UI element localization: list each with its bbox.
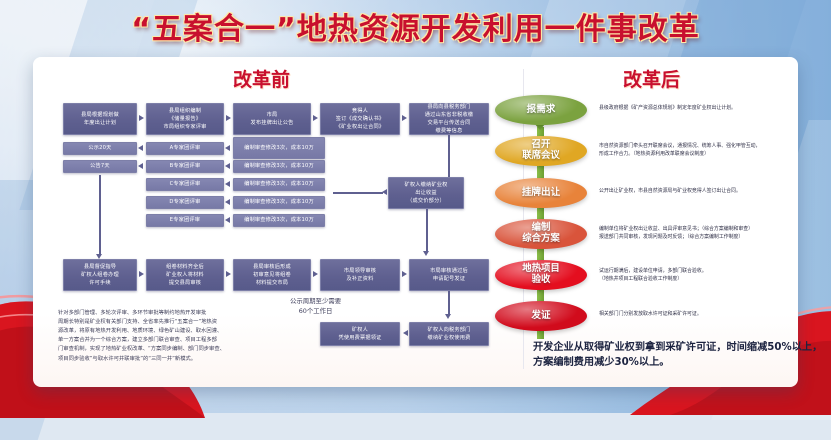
flow-box: 矿权人 凭使用费票据领证 [320,322,400,346]
arrow-down-icon [445,314,451,319]
step-description: 相关部门门分别发放取水许可证和采矿许可证。 [599,311,814,319]
arrow-down-icon [423,251,429,256]
flow-box-label: 矿权人向税务部门 缴纳矿业权使用费 [427,326,470,342]
flow-box-label: 县局督促指导 矿权人组卷办理 许可手续 [81,263,119,287]
flow-box-label: 县局审核后形成 初审意见将组卷 材料提交市局 [253,263,291,287]
flow-box: 矿权人向税务部门 缴纳矿业权使用费 [409,322,489,346]
flow-box: 县局向县税务部门 通过山东省非税收缴 交易平台传送合同 缴费等信息 [409,103,489,135]
connector-line [448,291,450,315]
flow-box-label: C专家团评审 [170,180,201,188]
connector-line [99,175,101,255]
arrow-right-icon [226,271,231,277]
step-label: 编制 综合方案 [522,223,560,245]
flow-box-label: 县局根据规划做 年度出让计划 [81,111,119,127]
flow-box-label: 公告7天 [90,162,110,170]
flow-box-label: 县局向县税务部门 通过山东省非税收缴 交易平台传送合同 缴费等信息 [425,103,474,135]
flow-box: 市局 发布挂牌出让公告 [233,103,311,135]
flow-box-label: 市局 发布挂牌出让公告 [250,111,293,127]
arrow-left-icon [138,145,143,151]
arrow-left-icon [225,181,230,187]
step-description: 市自然资源部门牵头召开联席会议，通报情况、统筹人事、强化甲管互动， 形成工作合力… [599,143,814,159]
step-label: 地热项目 验收 [522,264,560,286]
step-oval-project-acceptance: 地热项目 验收 [495,260,587,290]
arrow-left-icon [225,145,230,151]
step-oval-issue-license: 发证 [495,301,587,331]
flow-box: C专家团评审 [146,178,224,191]
flow-box-label: 编制审查修改3次，成本10万 [244,180,314,188]
flow-box: 编制审查修改3次，成本10万 [233,196,325,209]
arrow-right-icon [402,115,407,121]
page-title: “五案合一”地热资源开发利用一件事改革 [0,4,831,48]
flow-box-label: 县局组织编制 《储量报告》 市局组织专家评审 [163,107,206,131]
flow-box-label: D专家团评审 [169,198,200,206]
step-description: 编制单位将矿业权出让收益、出具评审意见书；（综合方案编制和审查） 报送部门共同审… [599,226,814,242]
flow-box-label: A专家团评审 [170,144,201,152]
flow-box-label: 市局领导审核 及补正资料 [344,267,376,283]
arrow-right-icon [139,115,144,121]
step-label: 发证 [531,310,550,321]
flow-box: 县局督促指导 矿权人组卷办理 许可手续 [63,259,137,291]
flow-box: 编制审查修改3次，成本10万 [233,178,325,191]
summary-paragraph: 针对多部门管理、多轮次评审、多环节审批等制约地热开发审批 周期长特别是矿业权有关… [58,309,273,364]
arrow-left-icon [225,163,230,169]
arrow-right-icon [402,271,407,277]
step-oval-report-demand: 报需求 [495,95,587,125]
flow-box-label: 编制审查修改3次，成本10万 [244,162,314,170]
flow-box: 公示20天 [63,142,137,155]
flow-box: 县局审核后形成 初审意见将组卷 材料提交市局 [233,259,311,291]
flow-box: A专家团评审 [146,142,224,155]
connector-line [333,192,383,194]
flow-box: E专家团评审 [146,214,224,227]
flow-box-label: 编制审查修改3次，成本10万 [244,216,314,224]
step-label: 报需求 [527,104,556,115]
flow-box-label: 公示20天 [88,144,111,152]
flow-box-label: E专家团评审 [170,216,200,224]
flow-box-label: 编制审查修改3次，成本10万 [244,144,314,152]
flow-box-label: 竞得人 签订《成交确认书》 《矿业权出让合同》 [336,107,385,131]
step-description: 试运行期满后，建设单位申请，多部门联合验收。 （地热井项目工程联合验收工作制度） [599,268,814,284]
arrow-left-icon [138,163,143,169]
section-heading-after: 改革后 [623,65,680,92]
step-description: 县级政府根据《矿产资源总体规划》制定年度矿业权出让计划。 [599,105,814,113]
flow-box-label: 矿权人 凭使用费票据领证 [338,326,381,342]
step-description: 公开出让矿业权，市县自然资源局与矿业权竞得人签订出让合同。 [599,188,814,196]
arrow-right-icon [226,115,231,121]
flow-box: 公告7天 [63,160,137,173]
notice-text: 公示周期至少需要 60个工作日 [290,297,341,317]
flow-box: 编制审查修改3次，成本10万 [233,214,325,227]
step-label: 召开 联席会议 [522,140,560,162]
flow-box-label: B专家团评审 [170,162,201,170]
flow-box: 县局组织编制 《储量报告》 市局组织专家评审 [146,103,224,135]
flow-box: 市局审核通过后 申请配号发证 [409,259,489,291]
flow-box: 组卷材料齐全后 矿业权人将材料 提交县局审核 [146,259,224,291]
connector-line [448,135,450,181]
arrow-left-icon [403,330,408,336]
flow-box-payment: 矿权人缴纳矿业权 出让收益 （成交价部分） [388,177,464,209]
flow-box: 编制审查修改3次，成本10万 [233,160,325,173]
connector-line [426,209,428,252]
arrow-left-icon [225,199,230,205]
flow-box-label: 编制审查修改3次，成本10万 [244,198,314,206]
content-board: 改革前 改革后 县局根据规划做 年度出让计划 县局组织编制 《储量报告》 市局组… [33,57,798,387]
arrow-left-icon [225,217,230,223]
flow-box-label: 矿权人缴纳矿业权 出让收益 （成交价部分） [404,181,447,205]
flow-box: B专家团评审 [146,160,224,173]
flow-box: 县局根据规划做 年度出让计划 [63,103,137,135]
flow-box-label: 市局审核通过后 申请配号发证 [430,267,468,283]
step-oval-joint-meeting: 召开 联席会议 [495,136,587,166]
arrow-right-icon [139,271,144,277]
flow-box: 竞得人 签订《成交确认书》 《矿业权出让合同》 [320,103,400,135]
flow-box: D专家团评审 [146,196,224,209]
flow-box-label: 组卷材料齐全后 矿业权人将材料 提交县局审核 [166,263,204,287]
step-oval-listing-transfer: 挂牌出让 [495,178,587,208]
step-label: 挂牌出让 [522,187,560,198]
section-heading-before: 改革前 [233,65,290,92]
arrow-right-icon [313,271,318,277]
step-oval-comprehensive-plan: 编制 综合方案 [495,219,587,249]
flow-box: 市局领导审核 及补正资料 [320,259,400,291]
flow-box: 编制审查修改3次，成本10万 [233,137,325,159]
conclusion-text: 开发企业从取得矿业权到拿到采矿许可证，时间缩减50%以上， 方案编制费用减少30… [533,340,823,371]
arrow-right-icon [313,115,318,121]
